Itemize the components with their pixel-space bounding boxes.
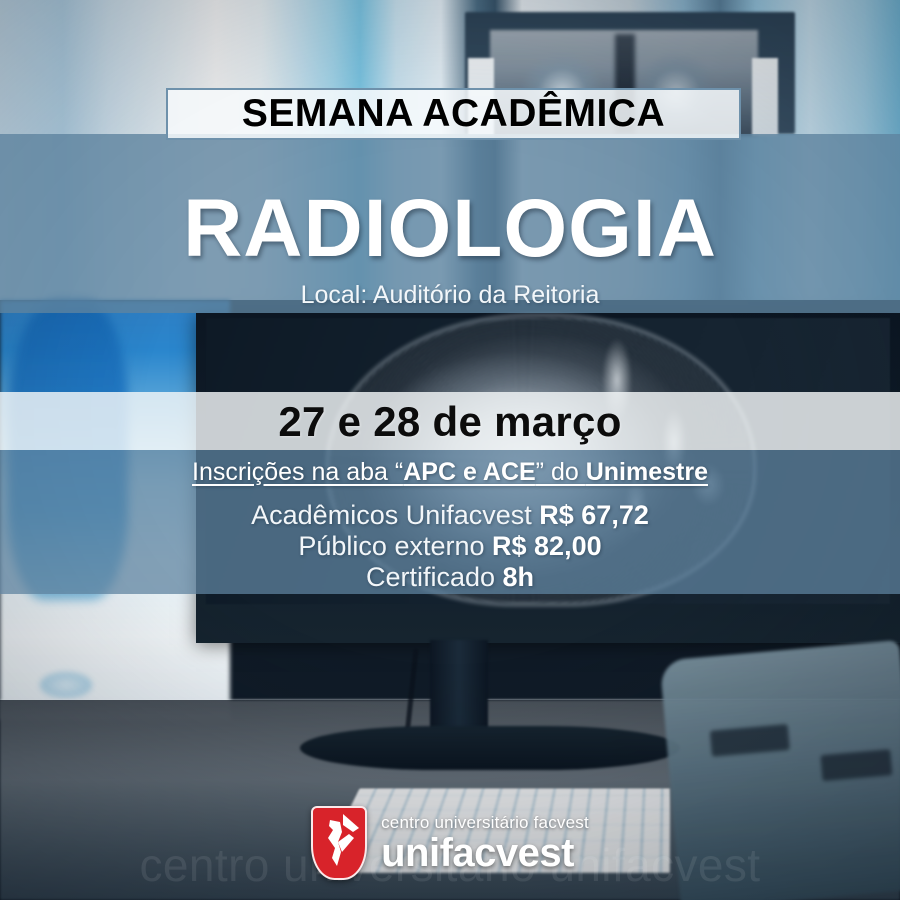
price-label-external: Público externo: [298, 531, 492, 561]
event-label-text: SEMANA ACADÊMICA: [242, 92, 665, 136]
logo-name: unifacvest: [381, 833, 589, 873]
unifacvest-logo: centro universitário facvest unifacvest: [0, 806, 900, 880]
logo-tagline: centro universitário facvest: [381, 814, 589, 831]
price-value-student: R$ 67,72: [539, 500, 649, 530]
price-row-student: Acadêmicos Unifacvest R$ 67,72: [0, 500, 900, 531]
price-label-certificate: Certificado: [366, 562, 503, 592]
registration-prefix: Inscrições na aba “: [192, 458, 403, 486]
registration-info: Inscrições na aba “APC e ACE” do Unimest…: [0, 458, 900, 487]
logo-text-block: centro universitário facvest unifacvest: [381, 814, 589, 873]
event-label-box: SEMANA ACADÊMICA: [166, 88, 741, 140]
event-date: 27 e 28 de março: [0, 398, 900, 446]
poster-canvas: centro universitário unifacvest SEMANA A…: [0, 0, 900, 900]
page-title: RADIOLOGIA: [0, 182, 900, 276]
shield-icon: [311, 806, 367, 880]
price-row-certificate: Certificado 8h: [0, 562, 900, 593]
location-text: Local: Auditório da Reitoria: [0, 281, 900, 310]
registration-system-name: Unimestre: [586, 458, 708, 486]
price-value-external: R$ 82,00: [492, 531, 602, 561]
registration-underlined-text: Inscrições na aba “APC e ACE” do Unimest…: [192, 458, 708, 486]
registration-tab-name: APC e ACE: [403, 458, 535, 486]
price-label-student: Acadêmicos Unifacvest: [251, 500, 539, 530]
registration-middle: ” do: [536, 458, 586, 486]
price-row-external: Público externo R$ 82,00: [0, 531, 900, 562]
price-value-certificate: 8h: [503, 562, 535, 592]
